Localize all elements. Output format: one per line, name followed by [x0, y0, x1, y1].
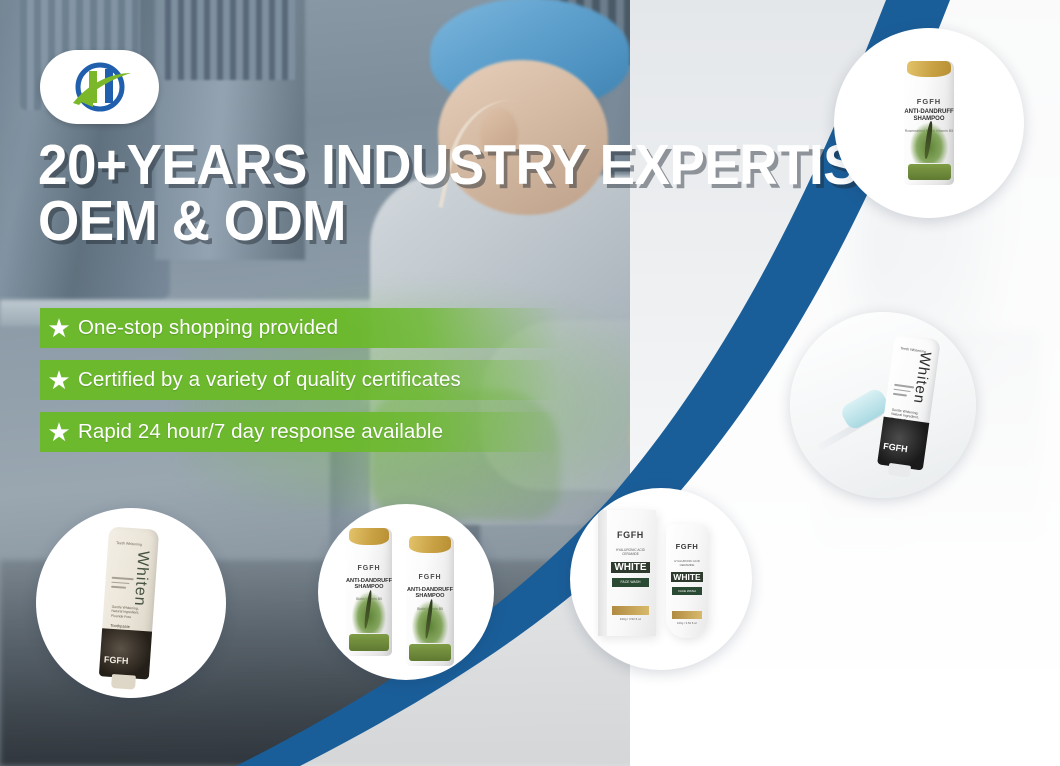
tube-detail-lines — [111, 577, 138, 593]
tube-brand: FGFH — [668, 542, 707, 551]
tube-detail-lines — [892, 384, 918, 401]
shampoo-bottle-right: FGFH ANTI-DANDRUFF SHAMPOO Biotin Vitami… — [406, 536, 454, 666]
bottle-brand: FGFH — [346, 565, 392, 572]
bottle-bottom-band — [409, 644, 450, 661]
feature-item-1: ★ One-stop shopping provided — [40, 308, 560, 348]
bottle-brand: FGFH — [406, 574, 454, 581]
bottle-cap — [349, 528, 390, 545]
tube-cap — [888, 463, 912, 478]
carton-brand: FGFH — [607, 530, 653, 540]
carton-ingredients: HYALURONIC ACID CERAMIDE — [607, 549, 653, 557]
company-logo[interactable] — [40, 50, 159, 124]
product-circle-toothpaste-bottom-left[interactable]: Whiten Teeth Whitening Gentle Whitening,… — [36, 508, 226, 698]
product-circle-shampoo-top-right[interactable]: FGFH ANTI-DANDRUFF SHAMPOO Rosemarinol B… — [834, 28, 1024, 218]
bottle-title: ANTI-DANDRUFF SHAMPOO — [904, 109, 954, 122]
shampoo-bottle: FGFH ANTI-DANDRUFF SHAMPOO Rosemarinol B… — [904, 61, 954, 185]
tube-subtitle: Gentle Whitening, Natural Ingredient, Fl… — [111, 605, 142, 620]
tube-brand: FGFH — [104, 654, 129, 666]
toothpaste-tube: Whiten Teeth Whitening Gentle Whitening,… — [877, 333, 941, 470]
rosemary-illustration — [910, 123, 948, 163]
carton-gold-bar — [612, 606, 649, 615]
shampoo-bottle-left: FGFH ANTI-DANDRUFF SHAMPOO Biotin Vitami… — [346, 528, 392, 656]
promo-banner: 20+YEARS INDUSTRY EXPERTISE OEM & ODM ★ … — [0, 0, 1060, 766]
logo-mark — [59, 61, 141, 113]
tube-title: WHITE — [671, 572, 703, 582]
feature-item-3: ★ Rapid 24 hour/7 day response available — [40, 412, 560, 452]
rosemary-illustration — [352, 592, 387, 633]
rosemary-illustration — [412, 601, 449, 643]
carton-title: WHITE — [611, 562, 650, 573]
product-circle-facewash[interactable]: FGFH HYALURONIC ACID CERAMIDE WHITE FACE… — [570, 488, 752, 670]
toothbrush — [808, 408, 882, 415]
feature-label-3: Rapid 24 hour/7 day response available — [78, 420, 443, 444]
tube-top-text: Teeth Whitening — [116, 541, 142, 547]
headline-line-1: 20+YEARS INDUSTRY EXPERTISE — [38, 133, 893, 197]
facewash-carton: FGFH HYALURONIC ACID CERAMIDE WHITE FACE… — [598, 510, 656, 636]
tube-category: FACE WASH — [672, 587, 702, 595]
headline-line-2: OEM & ODM — [38, 194, 782, 250]
product-circle-shampoo-pair[interactable]: FGFH ANTI-DANDRUFF SHAMPOO Biotin Vitami… — [318, 504, 494, 680]
bottle-cap — [409, 536, 451, 553]
bottle-title: ANTI-DANDRUFF SHAMPOO — [406, 587, 454, 599]
bottle-bottom-band — [908, 164, 951, 180]
facewash-tube: FGFH HYALURONIC ACID CERAMIDE WHITE FACE… — [666, 524, 708, 638]
carton-side-panel — [598, 510, 607, 636]
feature-label-2: Certified by a variety of quality certif… — [78, 368, 461, 392]
bottle-cap — [907, 61, 951, 77]
bottle-brand: FGFH — [904, 97, 954, 106]
feature-label-1: One-stop shopping provided — [78, 316, 338, 340]
bottle-title: ANTI-DANDRUFF SHAMPOO — [346, 578, 392, 590]
tube-net-weight: 100g / 3.52 fl.oz — [669, 622, 706, 625]
carton-net-weight: 100g / 3.52 fl.oz — [607, 618, 653, 622]
product-circle-toothpaste-mid-right[interactable]: Whiten Teeth Whitening Gentle Whitening,… — [790, 312, 976, 498]
star-icon: ★ — [40, 419, 78, 445]
carton-category: FACE WASH — [612, 578, 649, 587]
tube-gold-bar — [672, 611, 702, 619]
bottle-bottom-band — [349, 634, 389, 651]
page-title: 20+YEARS INDUSTRY EXPERTISE OEM & ODM — [38, 138, 782, 250]
tube-cap — [111, 674, 136, 689]
toothpaste-tube: Whiten Teeth Whitening Gentle Whitening,… — [99, 526, 159, 679]
star-icon: ★ — [40, 315, 78, 341]
tube-top-text: Teeth Whitening — [900, 346, 926, 354]
tube-ingredients: HYALURONIC ACID CERAMIDE — [669, 560, 706, 567]
star-icon: ★ — [40, 367, 78, 393]
feature-list: ★ One-stop shopping provided ★ Certified… — [40, 308, 560, 464]
feature-item-2: ★ Certified by a variety of quality cert… — [40, 360, 560, 400]
